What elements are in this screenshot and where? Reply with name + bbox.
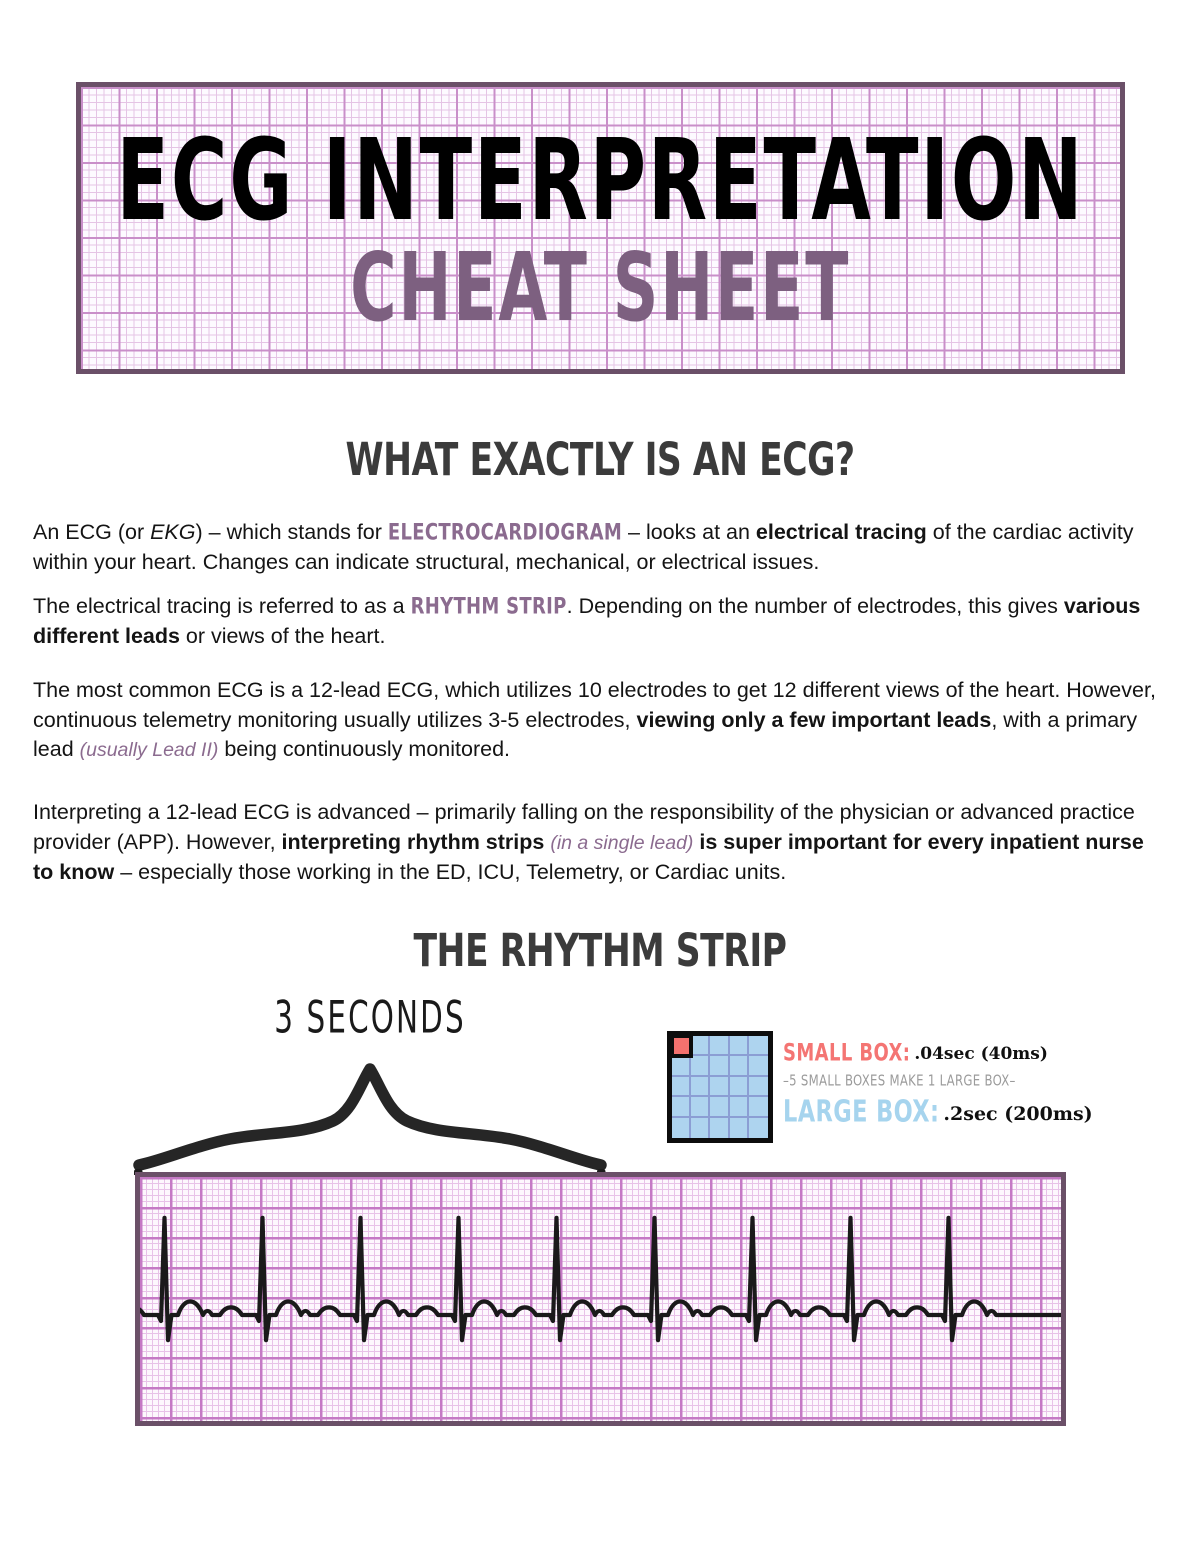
curly-brace-icon	[120, 1033, 620, 1175]
paragraph-interpreting: Interpreting a 12-lead ECG is advanced –…	[33, 798, 1170, 888]
p2-seg1: The electrical tracing is referred to as…	[33, 594, 411, 618]
three-seconds-bracket-group: 3 SECONDS	[120, 995, 620, 1175]
p2-rhythm-strip-accent: RHYTHM STRIP	[411, 590, 567, 623]
legend-cell	[691, 1056, 710, 1076]
legend-cell	[730, 1077, 749, 1097]
paragraph-what-is-ecg: An ECG (or EKG) – which stands for ELECT…	[33, 518, 1170, 577]
p1-electrocardiogram-accent: ELECTROCARDIOGRAM	[388, 516, 622, 549]
ecg-waveform-trace	[140, 1177, 1061, 1421]
legend-cell	[749, 1056, 768, 1076]
legend-cell	[710, 1036, 729, 1056]
legend-cell	[730, 1056, 749, 1076]
p1-ekg-italic: EKG	[150, 520, 195, 544]
legend-row-large-box: LARGE BOX:.2sec (200ms)	[783, 1097, 995, 1126]
large-box-label: LARGE BOX:	[783, 1094, 939, 1129]
section-heading-rhythm-strip: THE RHYTHM STRIP	[24, 925, 1176, 977]
small-box-label: SMALL BOX:	[783, 1038, 910, 1067]
legend-cell	[672, 1118, 691, 1138]
legend-cell	[730, 1097, 749, 1117]
legend-cell	[691, 1036, 710, 1056]
p2-seg3: . Depending on the number of electrodes,…	[567, 594, 1064, 618]
title-banner: ECG INTERPRETATION CHEAT SHEET	[76, 82, 1125, 374]
legend-cell-highlighted-small-box	[670, 1034, 693, 1058]
p1-seg3: ) – which stands for	[196, 520, 388, 544]
ecg-rhythm-strip	[135, 1172, 1066, 1426]
legend-cell	[730, 1036, 749, 1056]
banner-title-line2: CHEAT SHEET	[350, 241, 850, 336]
legend-cell	[710, 1097, 729, 1117]
cheat-sheet-page: ECG INTERPRETATION CHEAT SHEET WHAT EXAC…	[0, 0, 1200, 1553]
legend-cell	[749, 1036, 768, 1056]
legend-row-note: –5 SMALL BOXES MAKE 1 LARGE BOX–	[783, 1072, 995, 1090]
p1-seg1: An ECG (or	[33, 520, 150, 544]
legend-cell	[710, 1118, 729, 1138]
legend-cell	[672, 1077, 691, 1097]
p2-seg5: or views of the heart.	[180, 624, 386, 648]
legend-cell	[691, 1118, 710, 1138]
legend-grid-diagram	[667, 1031, 773, 1143]
p3-viewing-leads-bold: viewing only a few important leads	[637, 708, 992, 732]
legend-cell	[710, 1056, 729, 1076]
legend-cell	[710, 1077, 729, 1097]
p3-usually-lead-two-accent: (usually Lead II)	[80, 739, 219, 761]
legend-cell	[749, 1097, 768, 1117]
p4-interpreting-strips-bold: interpreting rhythm strips	[282, 830, 545, 854]
title-banner-content: ECG INTERPRETATION CHEAT SHEET	[81, 87, 1120, 369]
legend-cell	[749, 1077, 768, 1097]
legend-row-small-box: SMALL BOX:.04sec (40ms)	[783, 1040, 995, 1064]
box-duration-legend: SMALL BOX:.04sec (40ms) –5 SMALL BOXES M…	[665, 1028, 995, 1150]
p3-seg5: being continuously monitored.	[218, 737, 510, 761]
p1-seg5: – looks at an	[622, 520, 756, 544]
large-box-value: .2sec (200ms)	[943, 1103, 1092, 1125]
banner-title-line1: ECG INTERPRETATION	[117, 127, 1085, 235]
legend-text-block: SMALL BOX:.04sec (40ms) –5 SMALL BOXES M…	[783, 1028, 995, 1126]
legend-note: –5 SMALL BOXES MAKE 1 LARGE BOX–	[783, 1073, 1016, 1090]
legend-cell	[691, 1077, 710, 1097]
legend-cell	[730, 1118, 749, 1138]
legend-cell	[672, 1097, 691, 1117]
p1-electrical-tracing-bold: electrical tracing	[756, 520, 927, 544]
p4-single-lead-accent: (in a single lead)	[550, 832, 693, 854]
legend-cell	[672, 1056, 691, 1076]
small-box-value: .04sec (40ms)	[914, 1044, 1048, 1064]
legend-cell	[749, 1118, 768, 1138]
p4-seg5: – especially those working in the ED, IC…	[114, 860, 786, 884]
legend-cell	[691, 1097, 710, 1117]
paragraph-12-lead: The most common ECG is a 12-lead ECG, wh…	[33, 676, 1170, 766]
section-heading-what-is-ecg: WHAT EXACTLY IS AN ECG?	[24, 434, 1176, 486]
paragraph-rhythm-strip-intro: The electrical tracing is referred to as…	[33, 592, 1170, 651]
